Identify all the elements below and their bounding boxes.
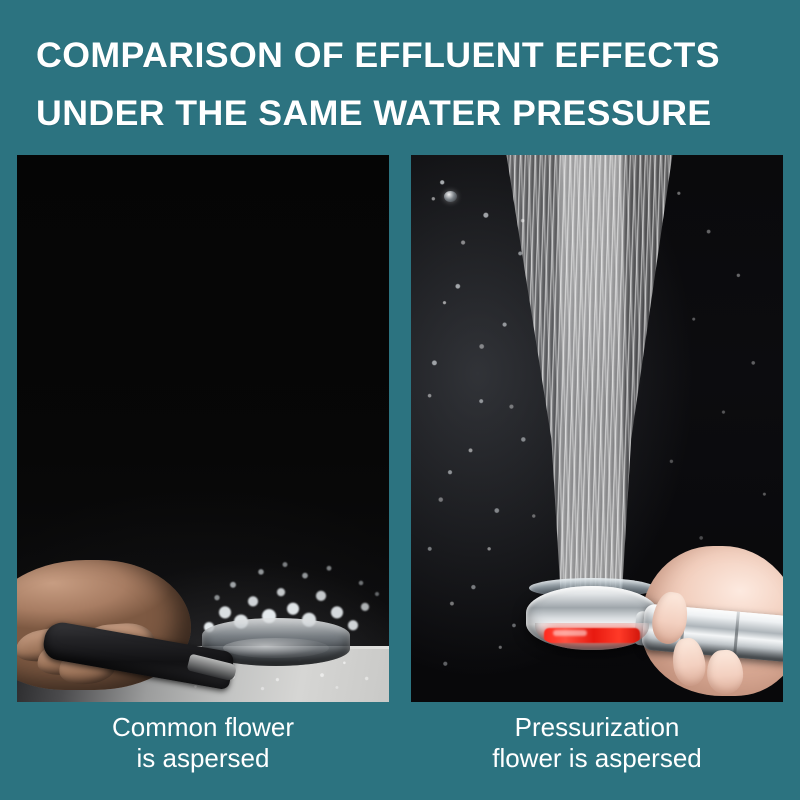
highlight-droplet xyxy=(444,191,457,202)
caption-right-line-1: Pressurization xyxy=(411,712,783,743)
page-title-line-2: UNDER THE SAME WATER PRESSURE xyxy=(36,96,791,132)
comparison-panel-right xyxy=(411,155,783,702)
caption-right-line-2: flower is aspersed xyxy=(411,743,783,774)
comparison-panel-left xyxy=(17,155,389,702)
caption-left-line-1: Common flower xyxy=(17,712,389,743)
page-title-line-1: COMPARISON OF EFFLUENT EFFECTS xyxy=(36,38,791,74)
caption-left: Common flower is aspersed xyxy=(17,712,389,774)
header-banner: COMPARISON OF EFFLUENT EFFECTS UNDER THE… xyxy=(0,0,800,150)
left-scene-photo xyxy=(17,155,389,702)
caption-left-line-2: is aspersed xyxy=(17,743,389,774)
handle-seam-2 xyxy=(733,612,740,658)
right-scene-photo xyxy=(411,155,783,702)
caption-right: Pressurization flower is aspersed xyxy=(411,712,783,774)
